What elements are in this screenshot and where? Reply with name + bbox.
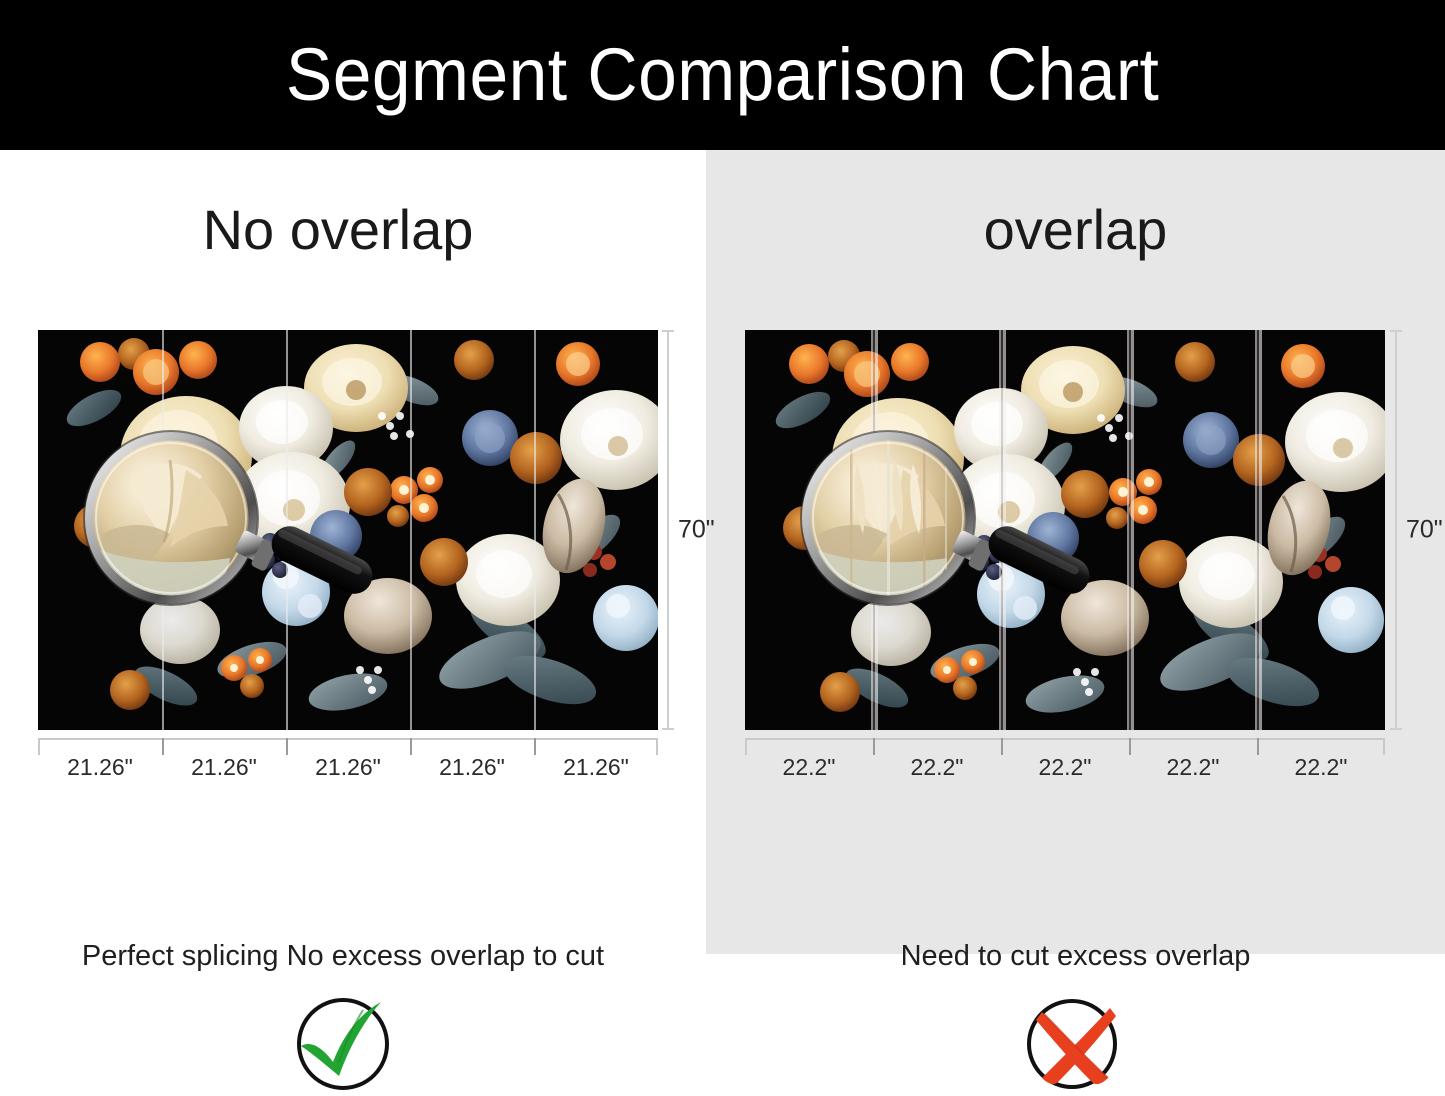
seam-line-overlap-4: [1255, 330, 1262, 730]
segment-label: 22.2": [1257, 754, 1385, 781]
verdict-check: [289, 988, 397, 1096]
dim-line: [667, 330, 669, 730]
dim-axis: [745, 738, 1385, 740]
panel-caption-no-overlap: Perfect splicing No excess overlap to cu…: [0, 940, 706, 973]
seam-line-1: [162, 330, 164, 730]
screenshot-root: Segment Comparison Chart No overlap Perf…: [0, 0, 1445, 954]
panel-heading-no-overlap: No overlap: [0, 202, 706, 258]
height-dimension-right: 70": [1390, 330, 1445, 730]
seam-line-overlap-1: [871, 330, 878, 730]
dim-axis: [38, 738, 658, 740]
height-dimension-left: 70": [662, 330, 722, 730]
height-label-left: 70": [678, 516, 715, 545]
mural-image-overlap: [745, 330, 1385, 730]
seam-line-4: [534, 330, 536, 730]
width-dimensions-right: 22.2" 22.2" 22.2" 22.2" 22.2": [745, 738, 1385, 784]
dim-tick: [162, 738, 164, 755]
seam-line-overlap-3: [1127, 330, 1134, 730]
panel-caption-overlap: Need to cut excess overlap: [706, 940, 1445, 973]
mural-image-no-overlap: [38, 330, 658, 730]
width-dimensions-left: 21.26" 21.26" 21.26" 21.26" 21.26": [38, 738, 658, 784]
dim-tick: [1001, 738, 1003, 755]
panel-heading-overlap: overlap: [706, 202, 1445, 258]
dim-line: [1395, 330, 1397, 730]
segment-label: 22.2": [1129, 754, 1257, 781]
seam-line-2: [286, 330, 288, 730]
mural-preview-no-overlap: [38, 330, 658, 730]
segment-label: 21.26": [38, 754, 162, 781]
segment-label: 21.26": [286, 754, 410, 781]
segment-label: 21.26": [534, 754, 658, 781]
segment-label: 21.26": [162, 754, 286, 781]
mural-preview-overlap: [745, 330, 1385, 730]
segment-label: 22.2": [1001, 754, 1129, 781]
dim-tick: [1129, 738, 1131, 755]
seam-line-3: [410, 330, 412, 730]
dim-tick: [534, 738, 536, 755]
verdict-cross: [1022, 988, 1130, 1096]
dim-tick: [410, 738, 412, 755]
segment-label: 22.2": [745, 754, 873, 781]
dim-tick: [873, 738, 875, 755]
segment-label: 21.26": [410, 754, 534, 781]
page-title: Segment Comparison Chart: [286, 38, 1159, 112]
dim-cap-bottom: [662, 728, 674, 730]
height-label-right: 70": [1406, 516, 1443, 545]
dim-tick: [745, 738, 747, 755]
title-banner: Segment Comparison Chart: [0, 0, 1445, 150]
dim-tick: [1257, 738, 1259, 755]
dim-tick: [1383, 738, 1385, 755]
seam-line-overlap-2: [999, 330, 1006, 730]
dim-tick: [656, 738, 658, 755]
segment-label: 22.2": [873, 754, 1001, 781]
dim-cap-bottom: [1390, 728, 1402, 730]
dim-tick: [38, 738, 40, 755]
dim-tick: [286, 738, 288, 755]
